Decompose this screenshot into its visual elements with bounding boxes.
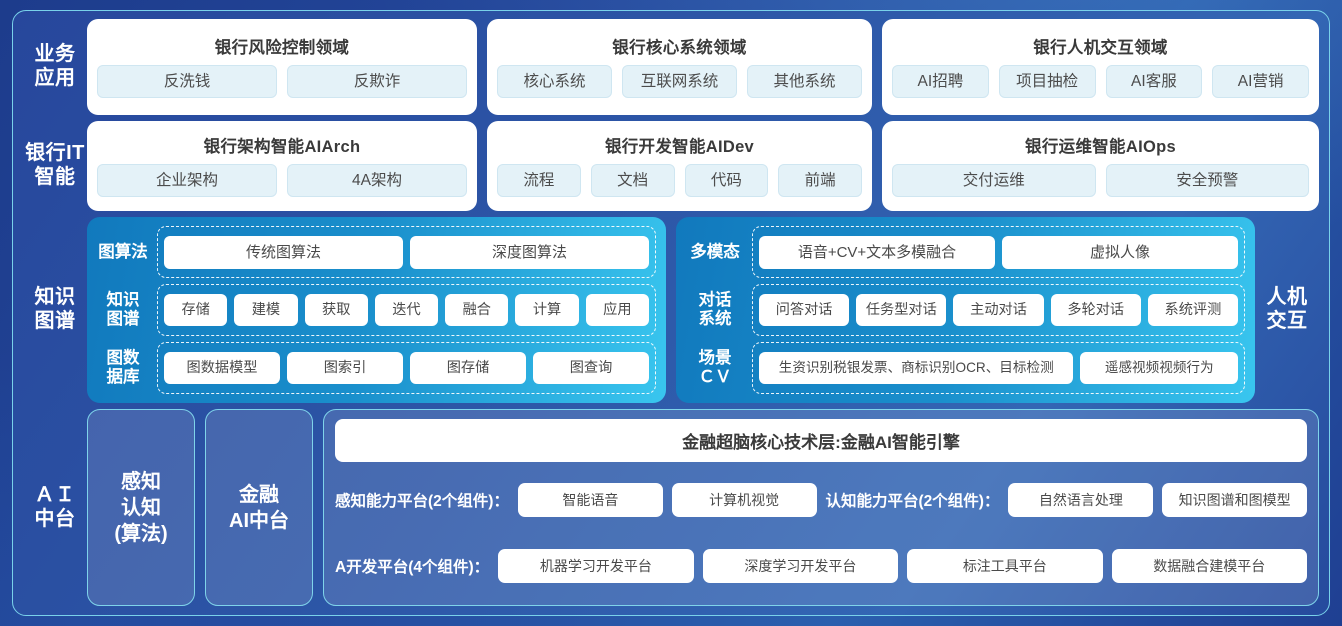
box-speech-cv-text-fusion[interactable]: 语音+CV+文本多模融合 <box>759 236 995 269</box>
box-proactive-dialogue[interactable]: 主动对话 <box>953 294 1043 326</box>
engine-panel: 金融超脑核心技术层:金融AI智能引擎 感知能力平台(2个组件)： 智能语音 计算… <box>323 409 1319 606</box>
chip-group: 反洗钱 反欺诈 <box>97 65 467 99</box>
box-iteration[interactable]: 迭代 <box>375 294 438 326</box>
card-aiarch[interactable]: 银行架构智能AIArch 企业架构 4A架构 <box>87 121 477 211</box>
panel-human-machine-interaction: 多模态 语音+CV+文本多模融合 虚拟人像 对话 系统 问答对话 任务型对话 主… <box>676 217 1255 403</box>
chip-anti-fraud[interactable]: 反欺诈 <box>287 65 467 99</box>
chip-group: 核心系统 互联网系统 其他系统 <box>497 65 862 99</box>
sublabel-scene-cv: 场景 ＣＶ <box>686 349 744 387</box>
pillar-finance-ai-platform[interactable]: 金融 AI中台 <box>205 409 313 606</box>
card-bank-risk-control[interactable]: 银行风险控制领域 反洗钱 反欺诈 <box>87 19 477 115</box>
platform-row-development: A开发平台(4个组件)： 机器学习开发平台 深度学习开发平台 标注工具平台 数据… <box>335 537 1307 594</box>
chip-ai-recruitment[interactable]: AI招聘 <box>892 65 989 99</box>
dashed-group-knowledge-graph: 存储 建模 获取 迭代 融合 计算 应用 <box>157 284 656 336</box>
dashed-group-graph-database: 图数据模型 图索引 图存储 图查询 <box>157 342 656 394</box>
chip-group: 企业架构 4A架构 <box>97 164 467 198</box>
bankit-cards: 银行架构智能AIArch 企业架构 4A架构 银行开发智能AIDev 流程 文档… <box>87 121 1319 211</box>
box-graph-query[interactable]: 图查询 <box>533 352 649 384</box>
card-title: 银行核心系统领域 <box>612 34 746 58</box>
engine-title: 金融超脑核心技术层:金融AI智能引擎 <box>335 419 1307 462</box>
row-label-hci: 人机 交互 <box>1255 217 1319 403</box>
dashed-group-scene-cv: 生资识别税银发票、商标识别OCR、目标检测 遥感视频视频行为 <box>752 342 1245 394</box>
box-modeling[interactable]: 建模 <box>234 294 297 326</box>
chip-group: 交付运维 安全预警 <box>892 164 1309 198</box>
card-title: 银行风险控制领域 <box>215 34 349 58</box>
label-ai-development-platform: A开发平台(4个组件)： <box>335 555 489 577</box>
sublabel-graph-database: 图数 据库 <box>97 349 149 387</box>
box-application[interactable]: 应用 <box>586 294 649 326</box>
box-graph-storage[interactable]: 图存储 <box>410 352 526 384</box>
dashed-group-graph-algorithm: 传统图算法 深度图算法 <box>157 226 656 278</box>
box-machine-learning-dev-platform[interactable]: 机器学习开发平台 <box>498 549 693 583</box>
dashed-group-dialogue-system: 问答对话 任务型对话 主动对话 多轮对话 系统评测 <box>752 284 1245 336</box>
chip-internet-system[interactable]: 互联网系统 <box>622 65 737 99</box>
row-bank-it-intelligence: 银行IT 智能 银行架构智能AIArch 企业架构 4A架构 银行开发智能AID… <box>23 121 1319 211</box>
chip-enterprise-architecture[interactable]: 企业架构 <box>97 164 277 198</box>
box-computation[interactable]: 计算 <box>515 294 578 326</box>
diagram-root: 业务 应用 银行风险控制领域 反洗钱 反欺诈 银行核心系统领域 核心系统 互联网… <box>0 0 1342 626</box>
subrow-multimodal: 多模态 语音+CV+文本多模融合 虚拟人像 <box>686 226 1245 278</box>
box-invoice-ocr-detection[interactable]: 生资识别税银发票、商标识别OCR、目标检测 <box>759 352 1073 384</box>
chip-4a-architecture[interactable]: 4A架构 <box>287 164 467 198</box>
subrow-dialogue-system: 对话 系统 问答对话 任务型对话 主动对话 多轮对话 系统评测 <box>686 284 1245 336</box>
box-storage[interactable]: 存储 <box>164 294 227 326</box>
box-computer-vision[interactable]: 计算机视觉 <box>672 483 817 517</box>
box-knowledge-graph-and-graph-model[interactable]: 知识图谱和图模型 <box>1162 483 1307 517</box>
box-graph-index[interactable]: 图索引 <box>287 352 403 384</box>
box-system-evaluation[interactable]: 系统评测 <box>1148 294 1238 326</box>
subrow-graph-database: 图数 据库 图数据模型 图索引 图存储 图查询 <box>97 342 656 394</box>
chip-delivery-ops[interactable]: 交付运维 <box>892 164 1096 198</box>
box-qa-dialogue[interactable]: 问答对话 <box>759 294 849 326</box>
box-multiturn-dialogue[interactable]: 多轮对话 <box>1051 294 1141 326</box>
box-traditional-graph-algorithm[interactable]: 传统图算法 <box>164 236 403 269</box>
ai-platform-content: 感知 认知 (算法) 金融 AI中台 金融超脑核心技术层:金融AI智能引擎 感知… <box>87 409 1319 606</box>
chip-core-system[interactable]: 核心系统 <box>497 65 612 99</box>
diagram-frame: 业务 应用 银行风险控制领域 反洗钱 反欺诈 银行核心系统领域 核心系统 互联网… <box>12 10 1330 616</box>
card-aidev[interactable]: 银行开发智能AIDev 流程 文档 代码 前端 <box>487 121 872 211</box>
card-title: 银行架构智能AIArch <box>204 133 361 157</box>
chip-project-inspection[interactable]: 项目抽检 <box>999 65 1096 99</box>
box-remote-sensing-video-behavior[interactable]: 遥感视频视频行为 <box>1080 352 1238 384</box>
sublabel-multimodal: 多模态 <box>686 243 744 262</box>
card-title: 银行人机交互领域 <box>1033 34 1167 58</box>
chip-anti-money-laundering[interactable]: 反洗钱 <box>97 65 277 99</box>
box-intelligent-speech[interactable]: 智能语音 <box>518 483 663 517</box>
label-cognitive-capability-platform: 认知能力平台(2个组件)： <box>826 489 1000 511</box>
box-natural-language-processing[interactable]: 自然语言处理 <box>1008 483 1153 517</box>
box-graph-data-model[interactable]: 图数据模型 <box>164 352 280 384</box>
box-fusion[interactable]: 融合 <box>445 294 508 326</box>
pillar-perception-cognition[interactable]: 感知 认知 (算法) <box>87 409 195 606</box>
box-data-fusion-modeling-platform[interactable]: 数据融合建模平台 <box>1112 549 1307 583</box>
chip-frontend[interactable]: 前端 <box>778 164 862 198</box>
chip-document[interactable]: 文档 <box>591 164 675 198</box>
box-deep-learning-dev-platform[interactable]: 深度学习开发平台 <box>703 549 898 583</box>
platform-row-capability: 感知能力平台(2个组件)： 智能语音 计算机视觉 认知能力平台(2个组件)： 自… <box>335 471 1307 528</box>
card-bank-human-machine[interactable]: 银行人机交互领域 AI招聘 项目抽检 AI客服 AI营销 <box>882 19 1319 115</box>
chip-other-system[interactable]: 其他系统 <box>747 65 862 99</box>
chip-ai-marketing[interactable]: AI营销 <box>1212 65 1309 99</box>
box-virtual-avatar[interactable]: 虚拟人像 <box>1002 236 1238 269</box>
chip-group: AI招聘 项目抽检 AI客服 AI营销 <box>892 65 1309 99</box>
business-cards: 银行风险控制领域 反洗钱 反欺诈 银行核心系统领域 核心系统 互联网系统 其他系… <box>87 19 1319 115</box>
box-task-dialogue[interactable]: 任务型对话 <box>856 294 946 326</box>
row-ai-platform: ＡＩ 中台 感知 认知 (算法) 金融 AI中台 金融超脑核心技术层:金融AI智… <box>23 409 1319 606</box>
mid-panels: 图算法 传统图算法 深度图算法 知识 图谱 存储 建模 获取 迭代 <box>87 217 1255 403</box>
box-acquisition[interactable]: 获取 <box>305 294 368 326</box>
panel-knowledge-graph: 图算法 传统图算法 深度图算法 知识 图谱 存储 建模 获取 迭代 <box>87 217 666 403</box>
box-deep-graph-algorithm[interactable]: 深度图算法 <box>410 236 649 269</box>
card-bank-core-system[interactable]: 银行核心系统领域 核心系统 互联网系统 其他系统 <box>487 19 872 115</box>
row-label-business: 业务 应用 <box>23 19 87 115</box>
dashed-group-multimodal: 语音+CV+文本多模融合 虚拟人像 <box>752 226 1245 278</box>
chip-ai-customer-service[interactable]: AI客服 <box>1106 65 1203 99</box>
chip-security-alert[interactable]: 安全预警 <box>1106 164 1310 198</box>
sublabel-graph-algorithm: 图算法 <box>97 243 149 262</box>
chip-process[interactable]: 流程 <box>497 164 581 198</box>
subrow-graph-algorithm: 图算法 传统图算法 深度图算法 <box>97 226 656 278</box>
chip-code[interactable]: 代码 <box>685 164 769 198</box>
card-title: 银行开发智能AIDev <box>605 133 754 157</box>
row-label-bank-it: 银行IT 智能 <box>23 121 87 211</box>
sublabel-dialogue-system: 对话 系统 <box>686 291 744 329</box>
card-title: 银行运维智能AIOps <box>1025 133 1176 157</box>
subrow-knowledge-graph: 知识 图谱 存储 建模 获取 迭代 融合 计算 应用 <box>97 284 656 336</box>
label-perception-capability-platform: 感知能力平台(2个组件)： <box>335 489 509 511</box>
sublabel-knowledge-graph: 知识 图谱 <box>97 291 149 329</box>
chip-group: 流程 文档 代码 前端 <box>497 164 862 198</box>
row-knowledge-and-hci: 知识 图谱 图算法 传统图算法 深度图算法 知识 图谱 存储 <box>23 217 1319 403</box>
row-business-application: 业务 应用 银行风险控制领域 反洗钱 反欺诈 银行核心系统领域 核心系统 互联网… <box>23 19 1319 115</box>
row-label-knowledge-graph: 知识 图谱 <box>23 217 87 403</box>
row-label-ai-platform: ＡＩ 中台 <box>23 409 87 606</box>
card-aiops[interactable]: 银行运维智能AIOps 交付运维 安全预警 <box>882 121 1319 211</box>
box-annotation-tool-platform[interactable]: 标注工具平台 <box>907 549 1102 583</box>
subrow-scene-cv: 场景 ＣＶ 生资识别税银发票、商标识别OCR、目标检测 遥感视频视频行为 <box>686 342 1245 394</box>
